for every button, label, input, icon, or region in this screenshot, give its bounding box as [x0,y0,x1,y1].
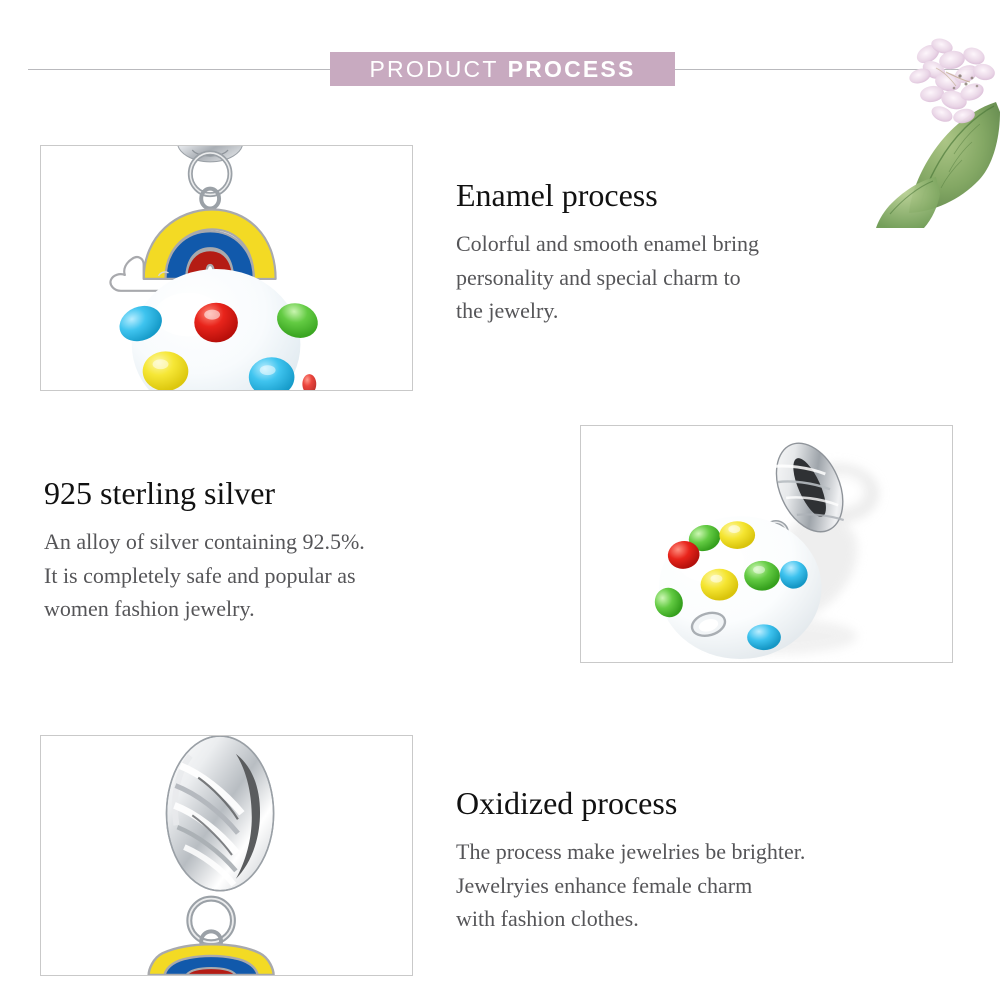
sterling-silver-title: 925 sterling silver [44,476,514,511]
silver-body-line-3: women fashion jewelry. [44,592,514,625]
oxidized-body-line-2: Jewelryies enhance female charm [456,869,956,902]
enamel-process-body: Colorful and smooth enamel bring persona… [456,227,926,327]
silver-body-line-2: It is completely safe and popular as [44,559,514,592]
page-title-badge: PRODUCT PROCESS [330,52,675,86]
enamel-body-line-2: personality and special charm to [456,261,926,294]
silver-body-line-1: An alloy of silver containing 92.5%. [44,525,514,558]
oxidized-process-text: Oxidized process The process make jewelr… [456,786,956,936]
oxidized-process-photo [40,735,413,976]
enamel-body-line-3: the jewelry. [456,294,926,327]
page-title-bold: PROCESS [508,56,636,83]
oxidized-process-body: The process make jewelries be brighter. … [456,835,956,935]
oxidized-body-line-3: with fashion clothes. [456,902,956,935]
page-header: PRODUCT PROCESS [0,0,1001,140]
enamel-process-title: Enamel process [456,178,926,213]
sterling-silver-text: 925 sterling silver An alloy of silver c… [44,476,514,626]
sterling-silver-body: An alloy of silver containing 92.5%. It … [44,525,514,625]
sterling-silver-photo: S925 [580,425,953,663]
oxidized-process-title: Oxidized process [456,786,956,821]
enamel-process-photo [40,145,413,391]
page-title-light: PRODUCT [370,56,499,83]
enamel-body-line-1: Colorful and smooth enamel bring [456,227,926,260]
enamel-process-text: Enamel process Colorful and smooth ename… [456,178,926,328]
oxidized-body-line-1: The process make jewelries be brighter. [456,835,956,868]
